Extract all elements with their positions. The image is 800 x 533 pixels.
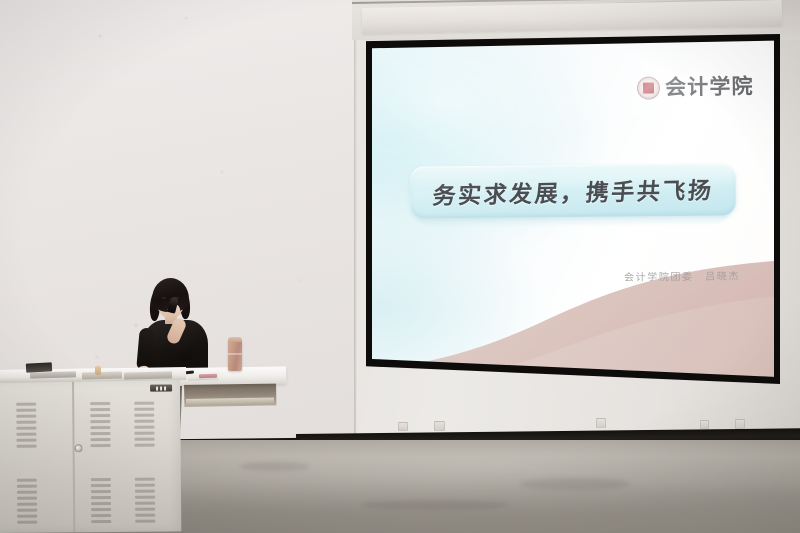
floor-stain bbox=[240, 462, 310, 471]
slide-title-banner-wrap: 务实求发展，携手共飞扬 bbox=[410, 164, 736, 219]
console-tray bbox=[30, 371, 76, 378]
cabinet-handle-plate[interactable] bbox=[150, 384, 172, 391]
equipment-console-cabinet bbox=[0, 379, 181, 533]
thermos-cap bbox=[228, 337, 242, 342]
console-tray bbox=[82, 371, 122, 379]
wall-socket-plate bbox=[434, 421, 445, 431]
projection-screen-surface: 会计学院 务实求发展，携手共飞扬 会计学院团委 吕晓杰 bbox=[372, 40, 774, 383]
wall-socket-plate bbox=[735, 419, 745, 429]
slide-title-text: 务实求发展，携手共飞扬 bbox=[431, 171, 715, 211]
thermos-bottle bbox=[228, 339, 242, 371]
cabinet-vent-group bbox=[17, 479, 37, 524]
lecture-hall-photo: 会计学院 务实求发展，携手共飞扬 会计学院团委 吕晓杰 bbox=[0, 0, 800, 533]
university-seal-emblem-icon bbox=[637, 76, 660, 99]
cabinet-lock-knob[interactable] bbox=[75, 444, 83, 452]
slide-logo: 会计学院 bbox=[637, 75, 754, 99]
cabinet-vent-group bbox=[91, 478, 111, 523]
cabinet-vent-group bbox=[134, 402, 154, 447]
wall-corner-edge bbox=[354, 0, 357, 444]
wall-socket-plate bbox=[596, 418, 606, 428]
presenter-eye bbox=[162, 297, 166, 299]
slide-byline-text: 会计学院团委 吕晓杰 bbox=[624, 267, 740, 283]
cabinet-vent-group bbox=[135, 478, 155, 523]
console-tray bbox=[124, 371, 172, 379]
slide-logo-text: 会计学院 bbox=[665, 76, 754, 98]
thermos-band bbox=[228, 353, 242, 355]
wall-socket-plate bbox=[700, 420, 709, 429]
cabinet-vent-group bbox=[16, 403, 36, 448]
floor-stain bbox=[360, 500, 510, 510]
wall-socket-plate bbox=[398, 422, 408, 431]
slide-title-banner: 务实求发展，携手共飞扬 bbox=[410, 164, 736, 219]
cabinet-door-seam bbox=[72, 380, 75, 532]
seal-inner-glyph bbox=[643, 83, 654, 94]
console-small-cup bbox=[95, 366, 101, 375]
floor-stain bbox=[520, 478, 630, 490]
red-paper-on-desk bbox=[199, 374, 217, 379]
cabinet-vent-group bbox=[90, 402, 110, 447]
